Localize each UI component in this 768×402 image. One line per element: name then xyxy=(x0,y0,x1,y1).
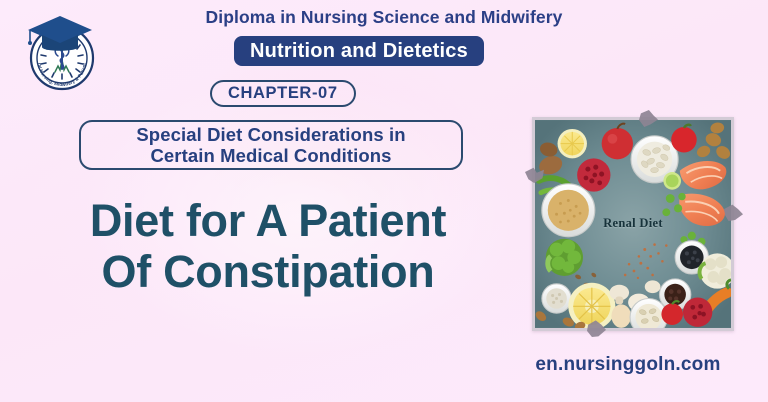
page-title-line-1: Diet for A Patient xyxy=(18,196,518,247)
page-title: Diet for A Patient Of Constipation xyxy=(18,196,518,298)
page-title-line-2: Of Constipation xyxy=(18,247,518,298)
chapter-badge: CHAPTER-07 xyxy=(210,80,356,107)
renal-diet-food-photo: Renal Diet xyxy=(532,117,734,331)
nursing-graduation-cap-logo: General Nursing, Midwifery & Patient Car… xyxy=(14,6,106,98)
food-photo-canvas xyxy=(535,120,731,328)
slide-canvas: General Nursing, Midwifery & Patient Car… xyxy=(0,0,768,402)
diploma-title: Diploma in Nursing Science and Midwifery xyxy=(160,7,608,28)
topic-box: Special Diet Considerations in Certain M… xyxy=(79,120,463,170)
topic-line-1: Special Diet Considerations in xyxy=(136,124,405,145)
subject-badge: Nutrition and Dietetics xyxy=(234,36,484,66)
topic-line-2: Certain Medical Conditions xyxy=(150,145,391,166)
site-url[interactable]: en.nursinggoln.com xyxy=(512,354,744,376)
